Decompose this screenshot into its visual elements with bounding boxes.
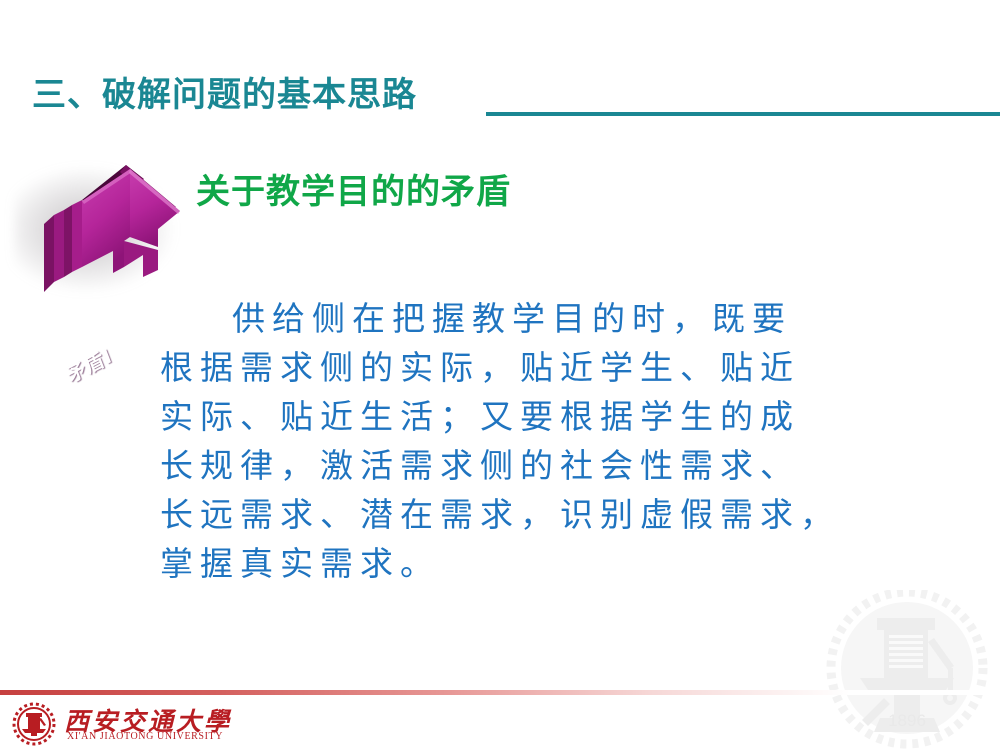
body-line: 长远需求、潜在需求，识别虚假需求， — [160, 490, 850, 539]
page-title: 三、破解问题的基本思路 — [32, 78, 417, 112]
university-gear-emblem-icon: 1896 — [822, 590, 992, 750]
arrow-badge-label: 矛盾I — [63, 341, 116, 388]
footer-divider — [0, 690, 1000, 695]
body-line: 实际、贴近生活；又要根据学生的成 — [160, 392, 850, 441]
slide-canvas: 三、破解问题的基本思路 — [0, 0, 1000, 750]
arrow-right-3d-icon — [8, 155, 198, 305]
logo-name-en: XI'AN JIAOTONG UNIVERSITY — [67, 731, 223, 742]
body-paragraph: 供给侧在把握教学目的时，既要 根据需求侧的实际，贴近学生、贴近 实际、贴近生活；… — [160, 294, 850, 588]
body-line: 掌握真实需求。 — [160, 539, 850, 588]
body-line: 长规律，激活需求侧的社会性需求、 — [160, 441, 850, 490]
body-line: 供给侧在把握教学目的时，既要 — [160, 294, 850, 343]
xjtu-gear-emblem-icon — [12, 702, 56, 746]
arrow-badge: 矛盾I — [8, 155, 198, 305]
watermark-year: 1896 — [888, 711, 926, 730]
sub-heading: 关于教学目的的矛盾 — [196, 172, 511, 213]
title-underline-rule — [486, 112, 1000, 116]
footer-logo: 西安交通大學 XI'AN JIAOTONG UNIVERSITY — [12, 700, 242, 746]
body-line: 根据需求侧的实际，贴近学生、贴近 — [160, 343, 850, 392]
